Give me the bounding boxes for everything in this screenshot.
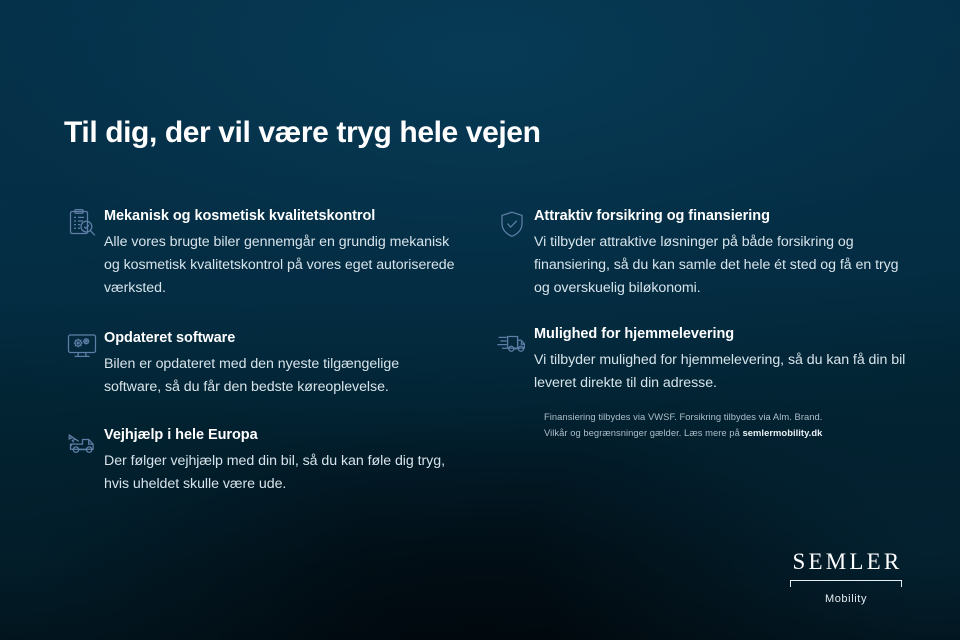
feature-title: Attraktiv forsikring og finansiering [534,207,910,226]
feature-text: Attraktiv forsikring og finansiering Vi … [534,206,910,300]
semler-mobility-logo: SEMLER Mobility [788,550,904,605]
feature-body: Bilen er opdateret med den nyeste tilgæn… [104,353,460,399]
feature-title: Vejhjælp i hele Europa [104,426,460,445]
feature-body: Der følger vejhjælp med din bil, så du k… [104,450,460,496]
spacer [60,300,460,328]
spacer [490,300,910,324]
feature-body: Vi tilbyder attraktive løsninger på både… [534,231,910,300]
feature-body: Alle vores brugte biler gennemgår en gru… [104,231,460,300]
feature-roadside-assistance: Vejhjælp i hele Europa Der følger vejhjæ… [60,425,460,496]
disclaimer: Finansiering tilbydes via VWSF. Forsikri… [544,409,844,440]
tow-truck-icon [60,425,104,467]
feature-text: Vejhjælp i hele Europa Der følger vejhjæ… [104,425,460,496]
feature-text: Opdateret software Bilen er opdateret me… [104,328,460,399]
feature-title: Opdateret software [104,329,460,348]
clipboard-check-magnifier-icon [60,206,104,248]
feature-text: Mulighed for hjemmelevering Vi tilbyder … [534,324,910,395]
logo-subtitle: Mobility [788,593,904,605]
feature-home-delivery: Mulighed for hjemmelevering Vi tilbyder … [490,324,910,395]
spacer [60,399,460,425]
disclaimer-line-2-prefix: Vilkår og begrænsninger gælder. Læs mere… [544,427,743,438]
right-feature-column: Attraktiv forsikring og finansiering Vi … [490,206,910,395]
monitor-gears-icon [60,328,104,370]
feature-quality-control: Mekanisk og kosmetisk kvalitetskontrol A… [60,206,460,300]
feature-title: Mekanisk og kosmetisk kvalitetskontrol [104,207,460,226]
disclaimer-line-1: Finansiering tilbydes via VWSF. Forsikri… [544,409,844,425]
disclaimer-line-2: Vilkår og begrænsninger gælder. Læs mere… [544,425,844,441]
disclaimer-website-link[interactable]: semlermobility.dk [743,427,823,438]
shield-check-icon [490,206,534,248]
page-title: Til dig, der vil være tryg hele vejen [64,115,541,150]
logo-bracket-rule [788,580,904,589]
feature-title: Mulighed for hjemmelevering [534,325,910,344]
feature-insurance-financing: Attraktiv forsikring og finansiering Vi … [490,206,910,300]
left-feature-column: Mekanisk og kosmetisk kvalitetskontrol A… [60,206,460,496]
feature-text: Mekanisk og kosmetisk kvalitetskontrol A… [104,206,460,300]
logo-wordmark: SEMLER [788,550,904,573]
promo-page: Til dig, der vil være tryg hele vejen Me… [0,0,960,640]
delivery-truck-icon [490,324,534,366]
feature-updated-software: Opdateret software Bilen er opdateret me… [60,328,460,399]
feature-body: Vi tilbyder mulighed for hjemmelevering,… [534,349,910,395]
